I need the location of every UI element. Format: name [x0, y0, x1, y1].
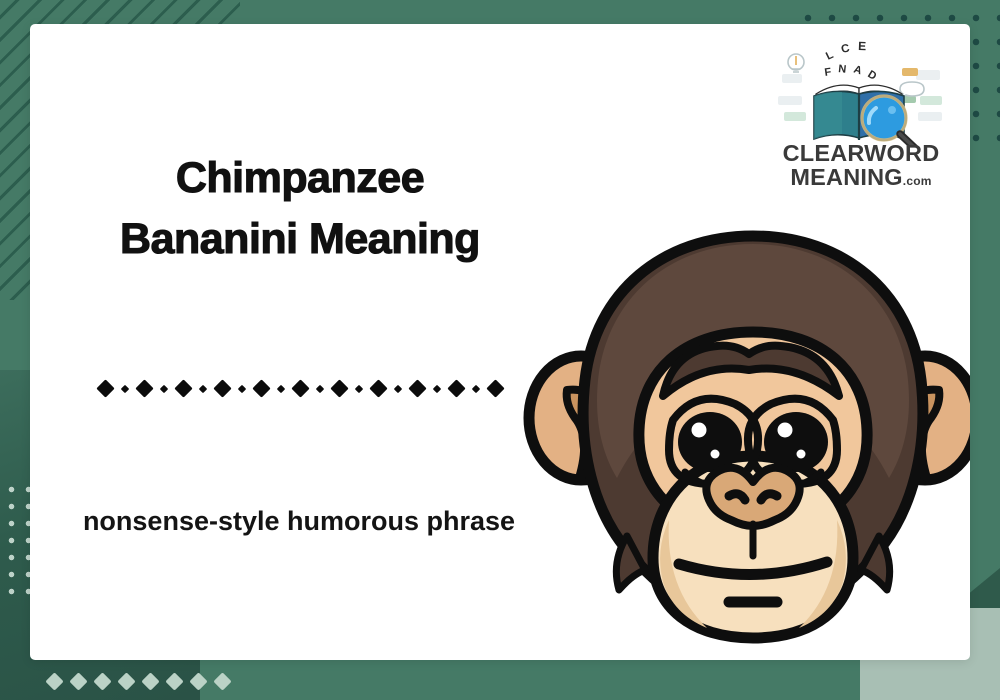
small-diamond-icon	[471, 384, 479, 392]
diamond-icon	[252, 379, 270, 397]
svg-text:F: F	[824, 66, 833, 79]
decor-diamond	[213, 672, 231, 690]
svg-text:N: N	[838, 63, 847, 76]
poster-canvas: Chimpanzee Bananini Meaning	[0, 0, 1000, 700]
small-diamond-icon	[120, 384, 128, 392]
decor-diamond-strip-bottom	[48, 675, 229, 688]
page-title: Chimpanzee Bananini Meaning	[30, 148, 570, 270]
decor-diamond	[165, 672, 183, 690]
diamond-icon	[174, 379, 192, 397]
chimpanzee-face-illustration	[523, 220, 970, 650]
svg-text:E: E	[858, 39, 866, 53]
decor-diamond	[69, 672, 87, 690]
diamond-icon	[369, 379, 387, 397]
small-diamond-icon	[393, 384, 401, 392]
decor-diamond	[141, 672, 159, 690]
diamond-icon	[447, 379, 465, 397]
diamond-icon	[486, 379, 504, 397]
logo-brand-line-1: CLEARWORD	[776, 142, 946, 166]
logo-brand-line-2: MEANING.com	[776, 166, 946, 190]
diamond-icon	[330, 379, 348, 397]
logo-wordmark: CLEARWORD MEANING.com	[776, 142, 946, 190]
diamond-icon	[291, 379, 309, 397]
decor-diamond	[93, 672, 111, 690]
ornamental-divider	[30, 382, 570, 395]
page-title-line-2: Bananini Meaning	[30, 209, 570, 270]
decor-diamond	[189, 672, 207, 690]
logo-tld: .com	[903, 174, 932, 188]
small-diamond-icon	[354, 384, 362, 392]
diamond-icon	[213, 379, 231, 397]
svg-text:L: L	[824, 49, 836, 63]
clearword-logo-icon: L C E F N A D	[776, 38, 946, 146]
small-diamond-icon	[432, 384, 440, 392]
small-diamond-icon	[198, 384, 206, 392]
svg-text:D: D	[865, 68, 878, 82]
decor-diamond	[117, 672, 135, 690]
small-diamond-icon	[276, 384, 284, 392]
small-diamond-icon	[159, 384, 167, 392]
logo-brand-main: MEANING	[790, 164, 902, 190]
diamond-icon	[408, 379, 426, 397]
svg-text:A: A	[852, 63, 863, 77]
small-diamond-icon	[237, 384, 245, 392]
svg-text:C: C	[840, 42, 851, 55]
decor-diamond	[45, 672, 63, 690]
small-diamond-icon	[315, 384, 323, 392]
diamond-icon	[96, 379, 114, 397]
diamond-icon	[135, 379, 153, 397]
content-card: Chimpanzee Bananini Meaning	[30, 24, 970, 660]
page-title-line-1: Chimpanzee	[30, 148, 570, 209]
subtitle-text: nonsense-style humorous phrase	[64, 502, 534, 541]
site-logo[interactable]: L C E F N A D	[776, 38, 946, 198]
